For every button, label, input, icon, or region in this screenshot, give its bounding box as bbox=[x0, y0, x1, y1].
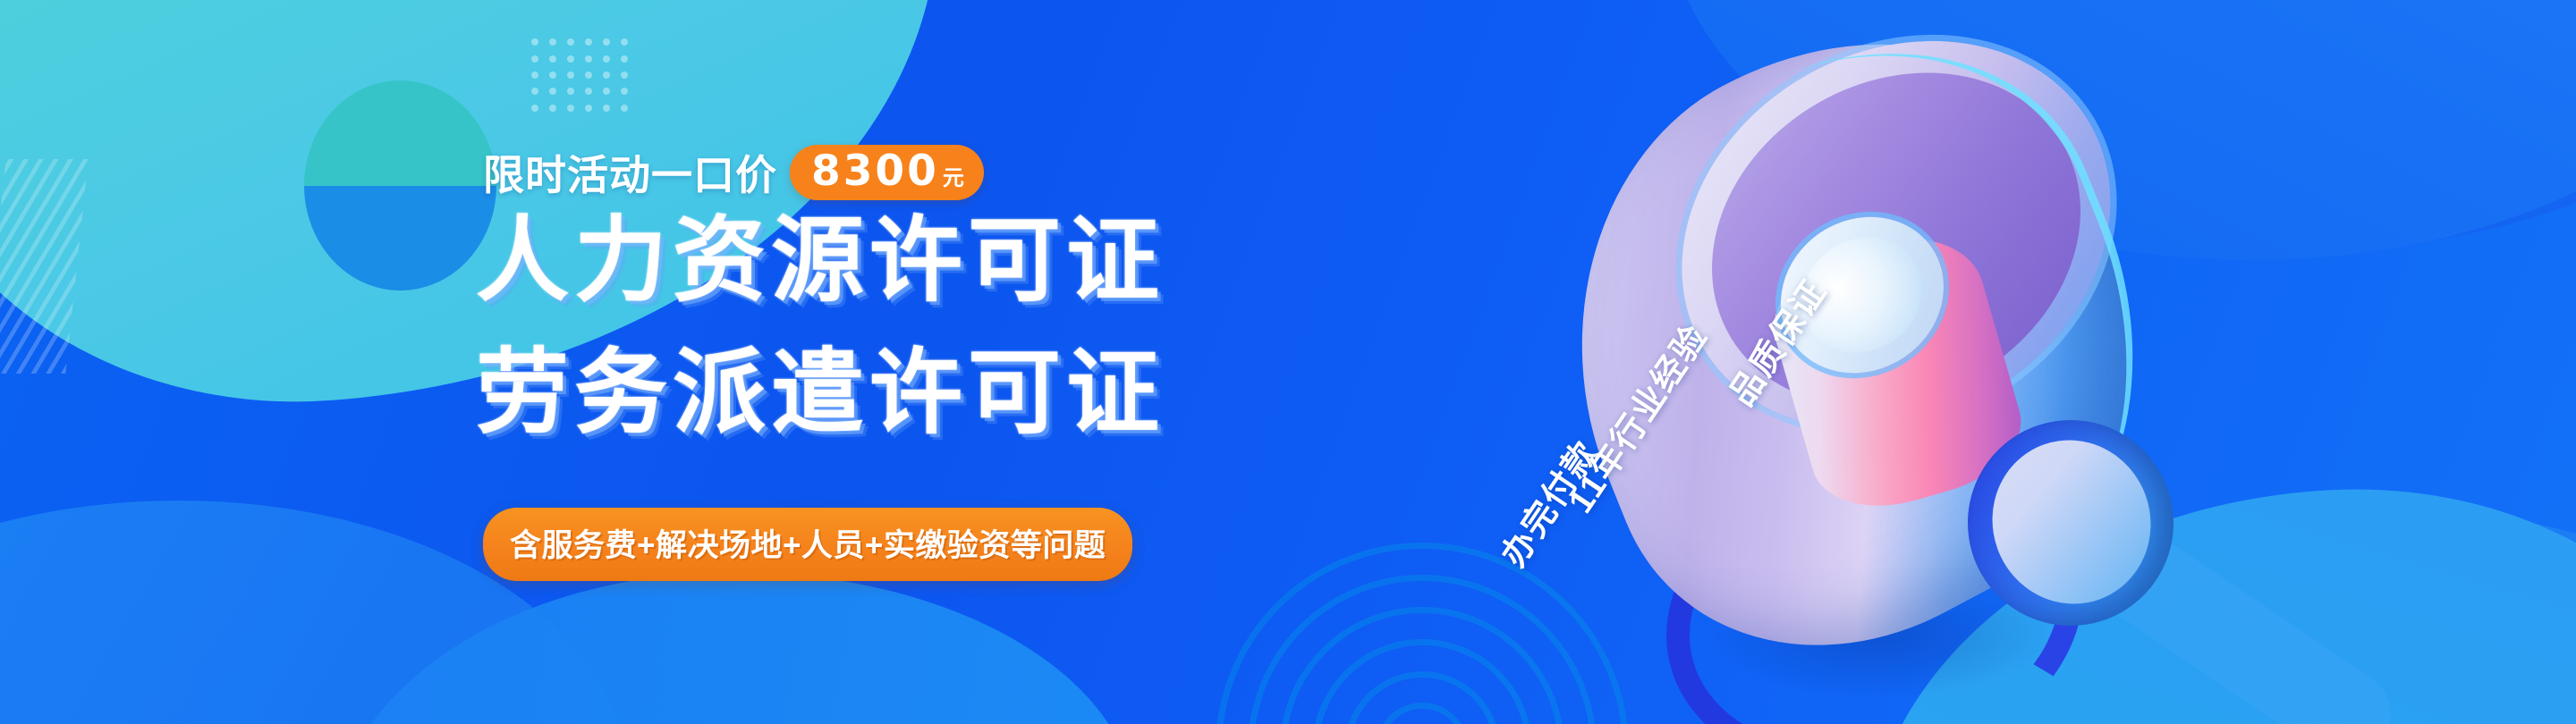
tagline-experience: 11年行业经验 bbox=[1554, 313, 1716, 521]
teal-wave-shape-secondary bbox=[0, 0, 501, 277]
diagonal-stripes-decor bbox=[0, 159, 89, 374]
headline-primary: 人力资源许可证 bbox=[476, 215, 1165, 307]
promotional-banner: 限时活动一口价 8300 元 人力资源许可证 劳务派遣许可证 含服务费+解决场地… bbox=[0, 0, 2576, 724]
two-tone-circle-decor bbox=[304, 80, 496, 290]
price-badge: 8300 元 bbox=[790, 145, 984, 200]
banner-content: 限时活动一口价 8300 元 人力资源许可证 劳务派遣许可证 含服务费+解决场地… bbox=[483, 0, 1360, 724]
price-currency-unit: 元 bbox=[943, 168, 964, 189]
circle-top-half bbox=[304, 80, 496, 186]
promo-row: 限时活动一口价 8300 元 bbox=[483, 143, 984, 202]
circle-bottom-half bbox=[304, 186, 496, 291]
feature-badge[interactable]: 含服务费+解决场地+人员+实缴验资等问题 bbox=[483, 508, 1132, 581]
headline-secondary: 劳务派遣许可证 bbox=[476, 347, 1165, 440]
feature-badge-label: 含服务费+解决场地+人员+实缴验资等问题 bbox=[510, 528, 1106, 563]
side-taglines: 办完付款 11年行业经验 品质保证 bbox=[1467, 0, 1932, 724]
tagline-quality: 品质保证 bbox=[1715, 267, 1835, 413]
price-value: 8300 bbox=[811, 150, 939, 192]
promo-label: 限时活动一口价 bbox=[483, 143, 777, 202]
